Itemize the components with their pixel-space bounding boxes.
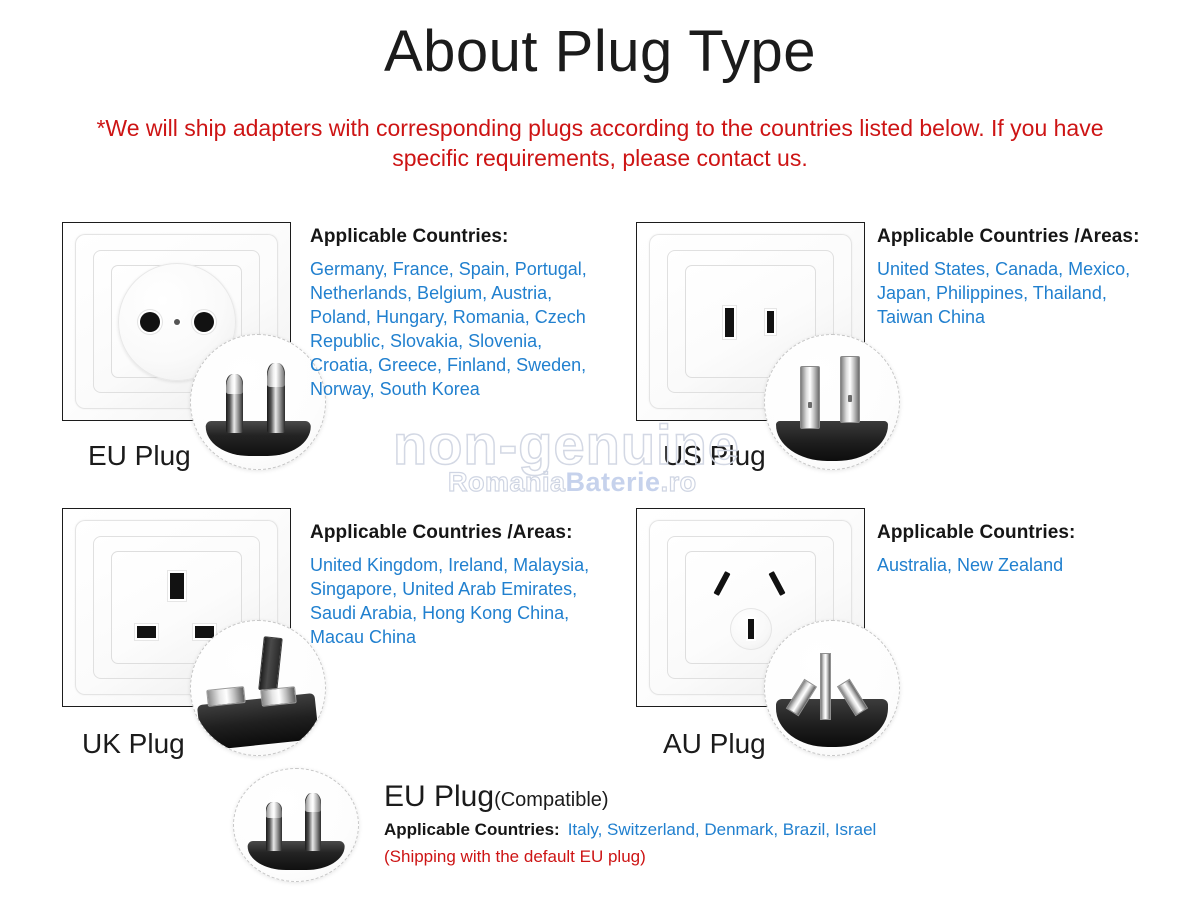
au-earth-recess [730, 608, 772, 650]
eu-compatible-note: (Shipping with the default EU plug) [384, 847, 646, 867]
eu-compatible-countries-line: Applicable Countries:Italy, Switzerland,… [384, 820, 876, 840]
plug-pin-right [267, 363, 284, 433]
pin-tip [305, 793, 321, 813]
au-country-list: Australia, New Zealand [877, 553, 1167, 577]
us-countries-panel: Applicable Countries /Areas: United Stat… [877, 226, 1187, 329]
uk-slot-live [137, 626, 156, 638]
au-slot-neutral [768, 571, 785, 596]
us-plug-icon [764, 334, 900, 470]
eu-country-list: Germany, France, Spain, Portugal, Nether… [310, 257, 600, 401]
eu-plug-icon [190, 334, 326, 470]
uk-slot-neutral [195, 626, 214, 638]
pin-tip [267, 363, 284, 387]
blade-hole [848, 395, 852, 402]
au-countries-panel: Applicable Countries: Australia, New Zea… [877, 522, 1187, 577]
us-plug-caption: US Plug [663, 440, 766, 472]
eu-pin-hole-left [140, 312, 160, 332]
eu-center-screw-icon [174, 319, 180, 325]
au-plug-caption: AU Plug [663, 728, 766, 760]
plug-blade-left [800, 366, 820, 429]
eu-countries-panel: Applicable Countries: Germany, France, S… [310, 226, 610, 401]
shipping-note: *We will ship adapters with correspondin… [60, 113, 1140, 173]
eu-compatible-title-suffix: (Compatible) [494, 789, 608, 811]
plug-body [206, 421, 311, 456]
uk-country-list: United Kingdom, Ireland, Malaysia, Singa… [310, 553, 600, 649]
plug-blade-right [840, 356, 860, 423]
eu-compatible-heading: Applicable Countries: [384, 820, 560, 839]
plug-body [248, 841, 345, 870]
watermark-site-part1: Romania [448, 467, 566, 497]
plug-pin-earth [820, 653, 831, 720]
uk-plug-caption: UK Plug [82, 728, 185, 760]
eu-pin-hole-right [194, 312, 214, 332]
us-slot-right [767, 311, 774, 333]
us-panel-heading: Applicable Countries /Areas: [877, 226, 1187, 248]
eu-compatible-plug-icon [233, 768, 359, 882]
us-slot-left [725, 308, 734, 337]
blade-hole [808, 402, 812, 408]
plug-type-infographic: About Plug Type *We will ship adapters w… [0, 0, 1200, 900]
pin-tip [226, 374, 243, 394]
au-panel-heading: Applicable Countries: [877, 522, 1187, 544]
eu-panel-heading: Applicable Countries: [310, 226, 610, 248]
page-title: About Plug Type [0, 22, 1200, 83]
eu-compatible-title-main: EU Plug [384, 780, 494, 813]
uk-countries-panel: Applicable Countries /Areas: United King… [310, 522, 610, 649]
uk-slot-earth [170, 573, 184, 599]
au-plug-icon [764, 620, 900, 756]
uk-panel-heading: Applicable Countries /Areas: [310, 522, 610, 544]
uk-plug-icon [190, 620, 326, 756]
plug-pin-left [226, 374, 243, 433]
eu-plug-caption: EU Plug [88, 440, 191, 472]
au-socket-illustration [636, 508, 871, 713]
au-slot-earth [748, 619, 754, 639]
uk-socket-illustration [62, 508, 297, 713]
eu-socket-illustration [62, 222, 297, 427]
us-socket-illustration [636, 222, 871, 427]
plug-pin-right [305, 793, 321, 851]
plug-pin-earth [258, 636, 282, 691]
plug-body [776, 421, 889, 461]
eu-compatible-country-list: Italy, Switzerland, Denmark, Brazil, Isr… [568, 820, 877, 839]
watermark-site: RomaniaBaterie.ro [448, 467, 697, 498]
watermark-site-part2: Baterie [566, 467, 661, 497]
eu-compatible-title: EU Plug(Compatible) [384, 780, 609, 814]
au-slot-live [713, 571, 730, 596]
us-country-list: United States, Canada, Mexico, Japan, Ph… [877, 257, 1167, 329]
plug-pin-left [266, 802, 282, 851]
pin-tip [266, 802, 282, 819]
